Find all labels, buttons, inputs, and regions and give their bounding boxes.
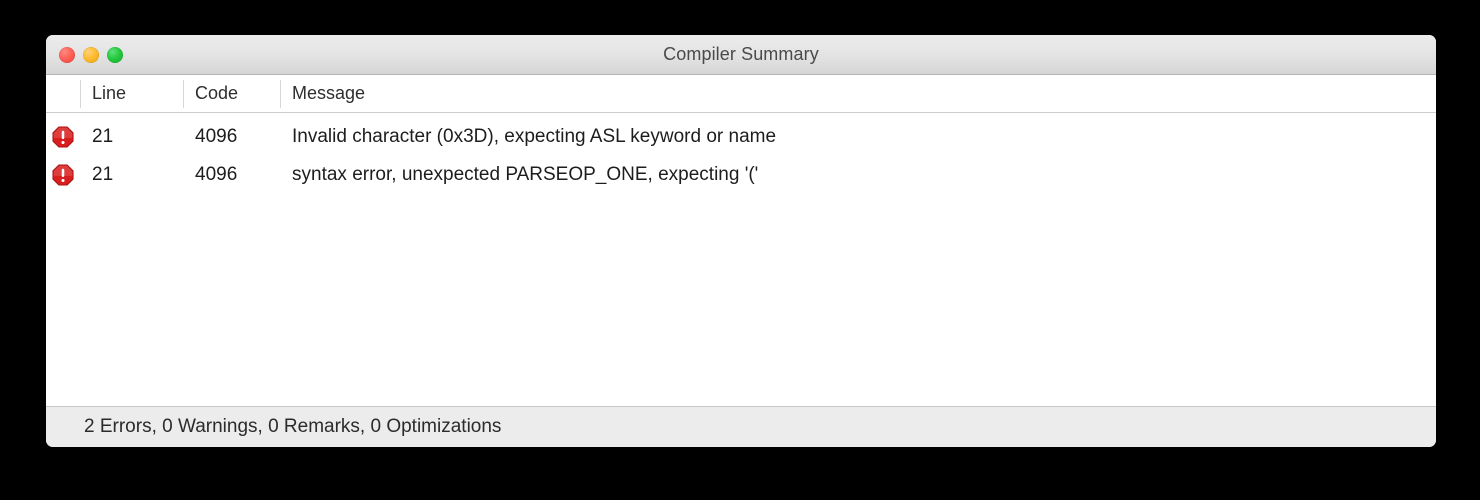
column-header-line[interactable]: Line xyxy=(80,75,183,113)
column-header-line-label: Line xyxy=(80,83,126,104)
column-header-message[interactable]: Message xyxy=(280,75,1436,113)
column-header-code[interactable]: Code xyxy=(183,75,280,113)
status-summary: 2 Errors, 0 Warnings, 0 Remarks, 0 Optim… xyxy=(46,416,501,438)
cell-message: syntax error, unexpected PARSEOP_ONE, ex… xyxy=(280,156,1436,194)
maximize-button[interactable] xyxy=(107,47,123,63)
window-titlebar[interactable]: Compiler Summary xyxy=(46,35,1436,75)
cell-code: 4096 xyxy=(183,156,280,194)
status-bar: 2 Errors, 0 Warnings, 0 Remarks, 0 Optim… xyxy=(46,406,1436,447)
diagnostics-list[interactable]: 21 4096 Invalid character (0x3D), expect… xyxy=(46,113,1436,406)
compiler-summary-window: Compiler Summary Line Code Message xyxy=(46,35,1436,447)
header-icon-spacer xyxy=(46,75,80,113)
table-row[interactable]: 21 4096 Invalid character (0x3D), expect… xyxy=(46,118,1436,156)
table-header-row: Line Code Message xyxy=(46,75,1436,113)
cell-message: Invalid character (0x3D), expecting ASL … xyxy=(280,118,1436,156)
cell-code: 4096 xyxy=(183,118,280,156)
column-header-code-label: Code xyxy=(183,83,238,104)
minimize-button[interactable] xyxy=(83,47,99,63)
window-title: Compiler Summary xyxy=(46,44,1436,65)
window-controls xyxy=(59,35,123,74)
column-divider xyxy=(280,80,281,108)
cell-line: 21 xyxy=(80,156,183,194)
error-octagon-icon xyxy=(52,126,74,148)
close-button[interactable] xyxy=(59,47,75,63)
error-octagon-icon xyxy=(52,164,74,186)
cell-line: 21 xyxy=(80,118,183,156)
severity-cell xyxy=(46,156,80,194)
column-divider xyxy=(183,80,184,108)
table-row[interactable]: 21 4096 syntax error, unexpected PARSEOP… xyxy=(46,156,1436,194)
severity-cell xyxy=(46,118,80,156)
column-divider xyxy=(80,80,81,108)
column-header-message-label: Message xyxy=(280,83,365,104)
